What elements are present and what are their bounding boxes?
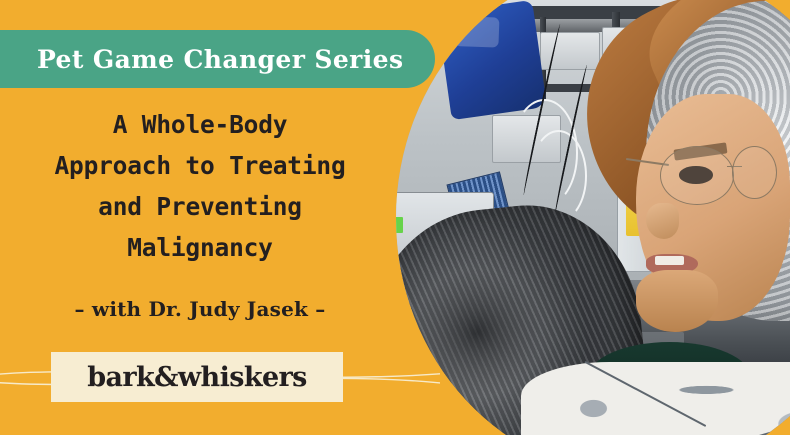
glasses-lens-near — [660, 146, 734, 205]
promo-card: Pet Game Changer Series A Whole-Body App… — [0, 0, 790, 435]
series-ribbon: Pet Game Changer Series — [0, 30, 435, 88]
headline-line-4: Malignancy — [0, 227, 400, 268]
speaker-photo-circle — [396, 0, 790, 435]
brand-logo-text: bark&whiskers — [87, 362, 307, 393]
clinic-photo — [396, 0, 790, 435]
woman-teeth — [655, 256, 684, 265]
woman-nose — [646, 203, 680, 239]
headline-line-1: A Whole-Body — [0, 104, 400, 145]
patterned-blouse — [521, 362, 790, 435]
headline-line-3: and Preventing — [0, 186, 400, 227]
headline-line-2: Approach to Treating — [0, 145, 400, 186]
presenter-byline: – with Dr. Judy Jasek – — [0, 297, 400, 321]
page-title: A Whole-Body Approach to Treating and Pr… — [0, 104, 400, 268]
woman-chin — [636, 270, 718, 332]
series-ribbon-label: Pet Game Changer Series — [37, 45, 403, 74]
brand-logo-band: bark&whiskers — [51, 352, 343, 402]
